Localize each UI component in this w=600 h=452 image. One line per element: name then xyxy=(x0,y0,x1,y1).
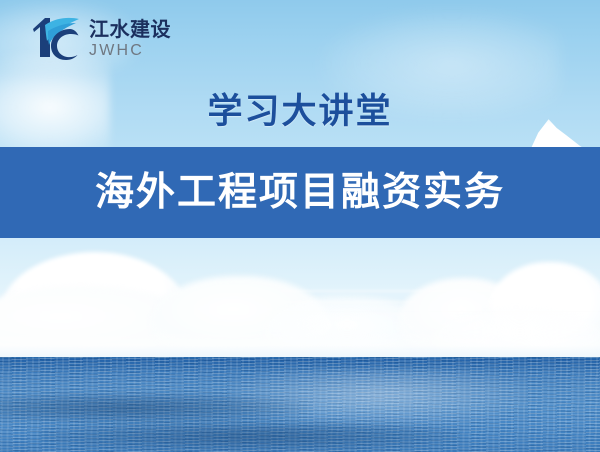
page-heading: 学习大讲堂 xyxy=(0,83,600,134)
company-logo: 江水建设 JWHC xyxy=(28,14,171,62)
sea-background xyxy=(0,357,600,452)
company-name-en: JWHC xyxy=(89,43,171,59)
sea-swell-left xyxy=(0,393,310,423)
cirrus-streaks-icon xyxy=(280,282,600,322)
course-title: 海外工程项目融资实务 xyxy=(95,173,505,212)
poster-root: 江水建设 JWHC 学习大讲堂 海外工程项目融资实务 xyxy=(0,0,600,452)
jwhc-wave-mark-icon xyxy=(28,14,82,62)
logo-text-block: 江水建设 JWHC xyxy=(89,18,171,59)
title-ribbon: 海外工程项目融资实务 xyxy=(0,147,600,238)
sea-swell-center xyxy=(40,421,460,451)
horizon-haze xyxy=(0,330,600,358)
company-name-cn: 江水建设 xyxy=(89,20,171,40)
